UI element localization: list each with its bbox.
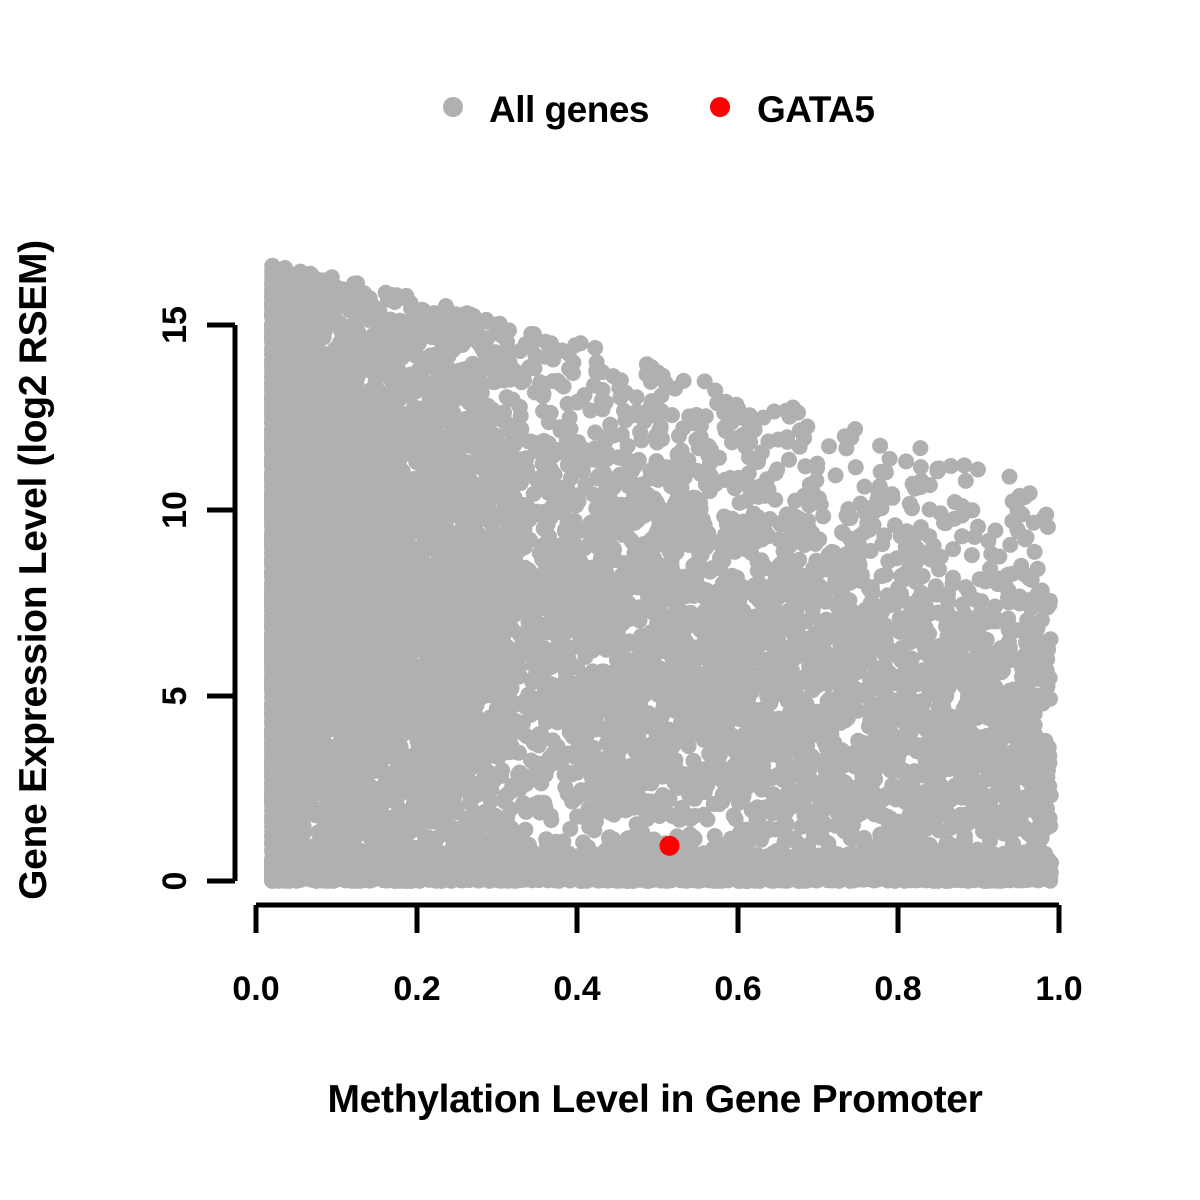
x-axis: 0.0 0.2 0.4 0.6 0.8 1.0: [232, 905, 1082, 1008]
legend-label-gata5: GATA5: [757, 89, 874, 130]
y-tick-label-5: 5: [156, 687, 194, 706]
x-tick-label-06: 0.6: [714, 970, 761, 1008]
y-axis-title: Gene Expression Level (log2 RSEM): [12, 240, 55, 900]
gata5-highlight-point: [660, 836, 680, 856]
legend-gray-dot-marker: [443, 97, 463, 117]
data-point-cloud: [264, 258, 1059, 889]
y-tick-label-0: 0: [156, 872, 194, 891]
x-axis-title: Methylation Level in Gene Promoter: [327, 1078, 982, 1121]
x-tick-label-08: 0.8: [874, 970, 921, 1008]
plot-canvas: All genes GATA5 15 10 5 0: [0, 0, 1200, 1200]
legend-red-dot-marker: [710, 97, 730, 117]
y-tick-label-10: 10: [156, 491, 194, 529]
x-tick-label-0: 0.0: [232, 970, 279, 1008]
x-tick-label-04: 0.4: [553, 970, 600, 1008]
y-tick-label-15: 15: [156, 306, 194, 344]
y-axis: 15 10 5 0: [156, 306, 235, 890]
legend: All genes GATA5: [443, 89, 874, 130]
x-tick-label-10: 1.0: [1035, 970, 1082, 1008]
scatter-plot-figure: All genes GATA5 15 10 5 0: [0, 0, 1200, 1200]
x-tick-label-02: 0.2: [393, 970, 440, 1008]
legend-label-all-genes: All genes: [489, 89, 649, 130]
